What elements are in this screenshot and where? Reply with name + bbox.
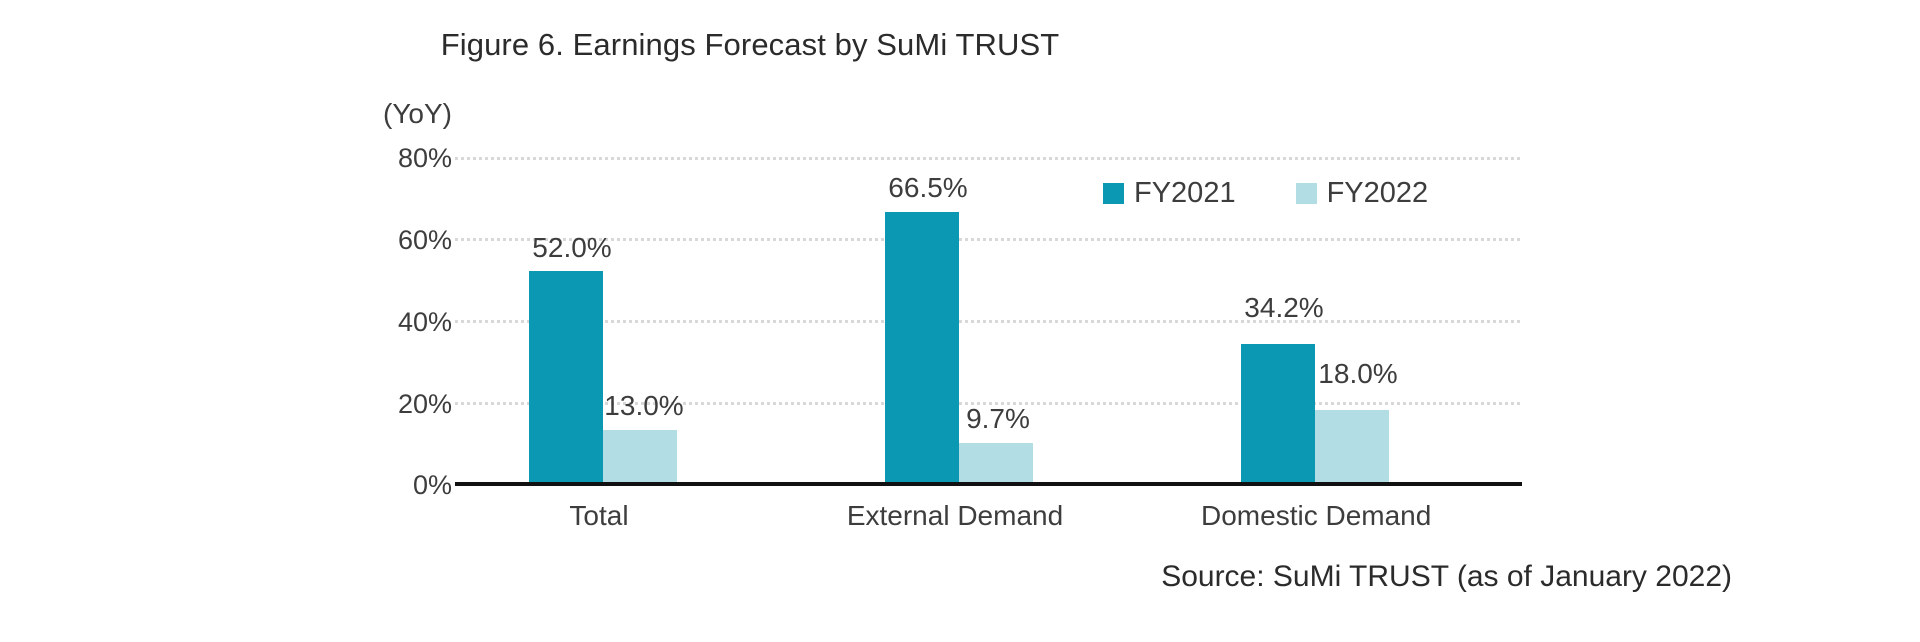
data-label-fy2022-domestic-demand: 18.0% xyxy=(1278,358,1438,390)
category-label-domestic-demand: Domestic Demand xyxy=(1201,500,1421,532)
legend-item-fy2021[interactable]: FY2021 xyxy=(1103,177,1236,210)
bar-fy2021-external-demand[interactable] xyxy=(885,212,959,483)
y-tick-label-0: 0% xyxy=(372,470,452,501)
data-label-fy2021-external-demand: 66.5% xyxy=(848,172,1008,204)
bar-fy2022-domestic-demand[interactable] xyxy=(1315,410,1389,483)
legend-label-fy2022: FY2022 xyxy=(1327,177,1429,210)
category-label-external-demand: External Demand xyxy=(845,500,1065,532)
gridline-80 xyxy=(455,157,1520,160)
y-tick-label-40: 40% xyxy=(372,307,452,338)
legend-swatch-icon-fy2022 xyxy=(1296,183,1317,204)
data-label-fy2022-total: 13.0% xyxy=(564,390,724,422)
chart-figure: Figure 6. Earnings Forecast by SuMi TRUS… xyxy=(0,0,1920,642)
source-note: Source: SuMi TRUST (as of January 2022) xyxy=(1161,560,1732,594)
data-label-fy2021-total: 52.0% xyxy=(492,232,652,264)
y-tick-label-80: 80% xyxy=(372,143,452,174)
bar-fy2022-external-demand[interactable] xyxy=(959,443,1033,483)
chart-legend: FY2021 FY2022 xyxy=(1103,177,1428,210)
y-axis-unit-label: (YoY) xyxy=(383,98,452,130)
legend-label-fy2021: FY2021 xyxy=(1134,177,1236,210)
data-label-fy2021-domestic-demand: 34.2% xyxy=(1204,292,1364,324)
y-tick-label-20: 20% xyxy=(372,389,452,420)
data-label-fy2022-external-demand: 9.7% xyxy=(918,403,1078,435)
bar-fy2021-total[interactable] xyxy=(529,271,603,483)
legend-item-fy2022[interactable]: FY2022 xyxy=(1296,177,1429,210)
x-axis-line xyxy=(455,482,1522,486)
category-label-total: Total xyxy=(489,500,709,532)
chart-title: Figure 6. Earnings Forecast by SuMi TRUS… xyxy=(0,27,1500,63)
y-tick-label-60: 60% xyxy=(372,225,452,256)
legend-swatch-icon-fy2021 xyxy=(1103,183,1124,204)
bar-fy2022-total[interactable] xyxy=(603,430,677,483)
